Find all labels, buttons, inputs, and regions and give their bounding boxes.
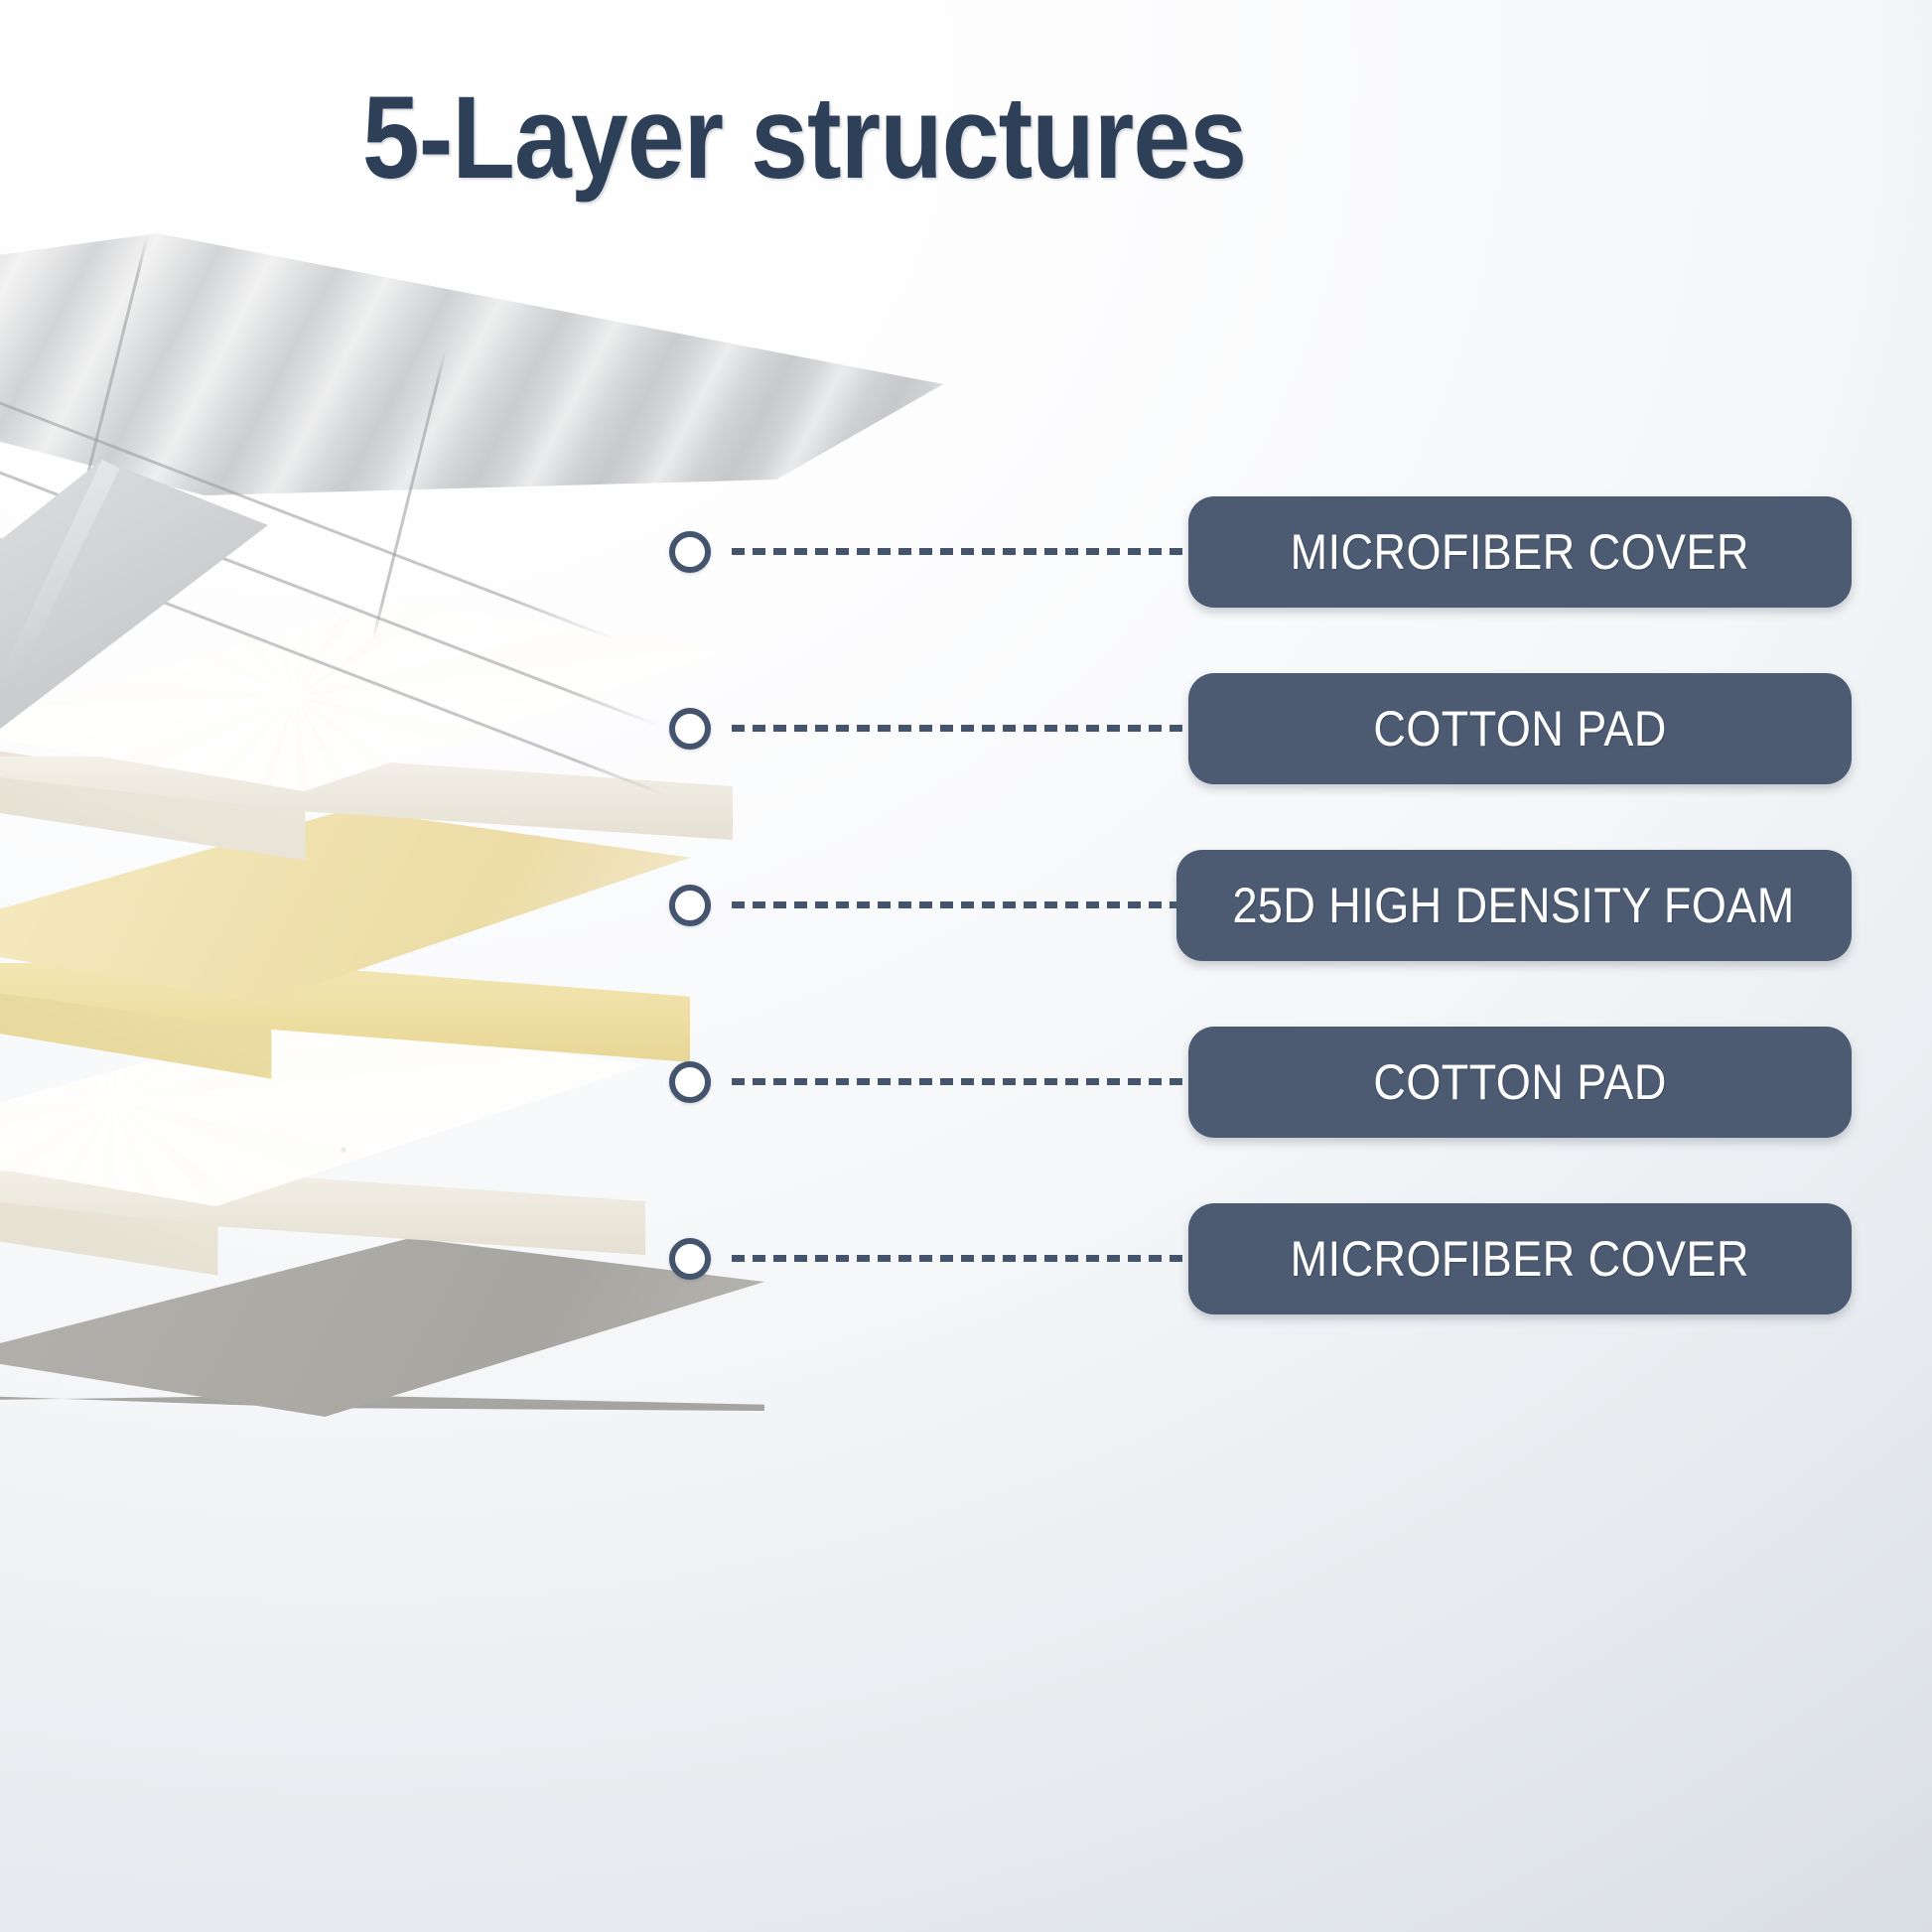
callout-marker-dot-icon — [669, 708, 711, 750]
callout-layer-4[interactable]: COTTON PAD — [0, 1027, 1932, 1138]
callout-label-text: COTTON PAD — [1373, 1053, 1666, 1111]
callout-label-pill-layer-1[interactable]: MICROFIBER COVER — [1188, 496, 1852, 608]
callout-marker-dot-icon — [669, 1238, 711, 1280]
callout-leader-line — [732, 548, 1188, 555]
callout-layer-1[interactable]: MICROFIBER COVER — [0, 496, 1932, 608]
callout-marker-dot-icon — [669, 1061, 711, 1103]
callout-marker-dot-icon — [669, 531, 711, 573]
callout-label-text: 25D HIGH DENSITY FOAM — [1233, 877, 1795, 934]
callout-label-pill-layer-4[interactable]: COTTON PAD — [1188, 1027, 1852, 1138]
layer-microfiber-cover-base-edge — [0, 1395, 764, 1435]
callout-label-pill-layer-3[interactable]: 25D HIGH DENSITY FOAM — [1176, 850, 1852, 961]
callout-leader-line — [732, 725, 1188, 732]
page-title: 5-Layer structures — [96, 77, 1512, 201]
callout-leader-line — [732, 1255, 1188, 1262]
callout-marker-dot-icon — [669, 885, 711, 926]
callout-layer-2[interactable]: COTTON PAD — [0, 673, 1932, 784]
callout-layer-5[interactable]: MICROFIBER COVER — [0, 1203, 1932, 1314]
callout-layer-3[interactable]: 25D HIGH DENSITY FOAM — [0, 850, 1932, 961]
callout-leader-line — [732, 901, 1176, 908]
callout-label-text: MICROFIBER COVER — [1291, 1230, 1749, 1288]
callout-label-text: COTTON PAD — [1373, 700, 1666, 758]
callout-label-pill-layer-2[interactable]: COTTON PAD — [1188, 673, 1852, 784]
callout-leader-line — [732, 1078, 1188, 1085]
infographic-canvas: 5-Layer structures MICROFIBER COVERCOTTO… — [0, 0, 1932, 1932]
callout-label-pill-layer-5[interactable]: MICROFIBER COVER — [1188, 1203, 1852, 1314]
callout-label-text: MICROFIBER COVER — [1291, 523, 1749, 581]
